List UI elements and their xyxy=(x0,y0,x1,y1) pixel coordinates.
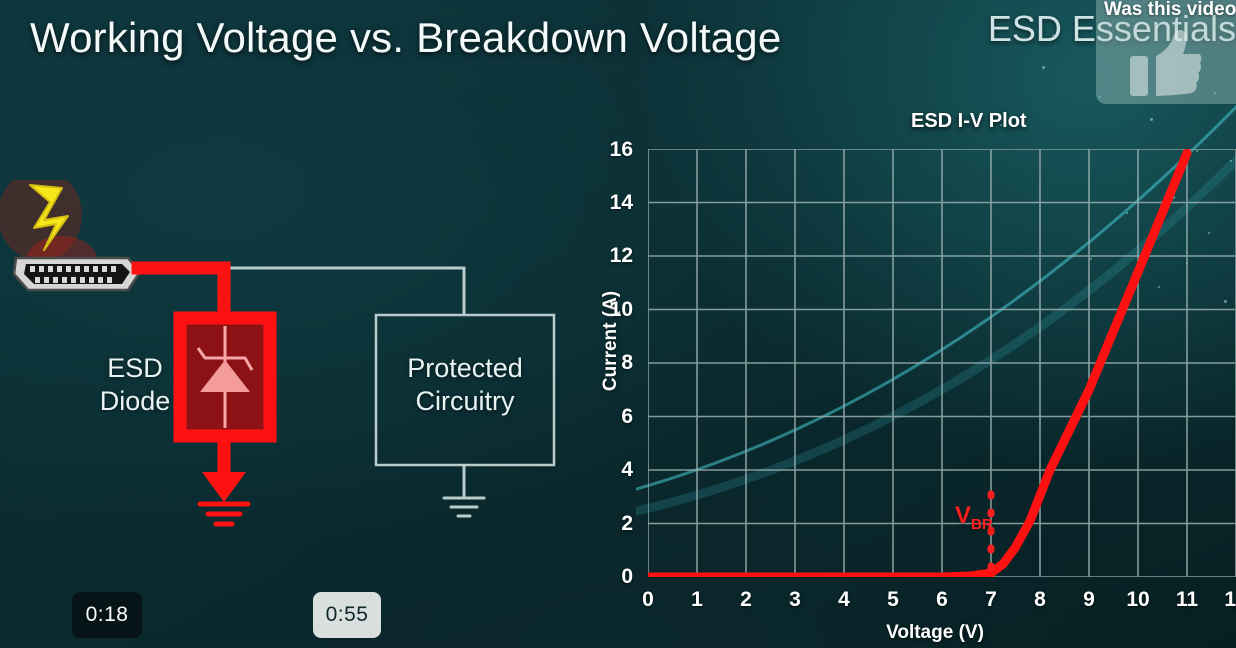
x-tick-4: 4 xyxy=(824,588,864,612)
esd-diode-label-line2: Diode xyxy=(80,385,190,418)
x-tick-9: 9 xyxy=(1069,588,1109,612)
vbr-label-main: V xyxy=(955,502,971,529)
current-time-badge[interactable]: 0:18 xyxy=(72,592,142,638)
total-time-badge[interactable]: 0:55 xyxy=(313,592,381,638)
y-tick-4: 4 xyxy=(593,458,633,482)
y-tick-12: 12 xyxy=(593,244,633,268)
page-title: Working Voltage vs. Breakdown Voltage xyxy=(30,14,781,62)
x-tick-11: 11 xyxy=(1167,588,1207,612)
grid-lines xyxy=(648,149,1236,577)
iv-curve xyxy=(648,153,1187,577)
protected-label-line1: Protected xyxy=(380,352,550,385)
vbr-annotation-label: VBR xyxy=(955,502,993,533)
x-tick-6: 6 xyxy=(922,588,962,612)
vbr-label-subscript: BR xyxy=(971,516,993,533)
x-tick-3: 3 xyxy=(775,588,815,612)
x-tick-8: 8 xyxy=(1020,588,1060,612)
x-tick-12: 12 xyxy=(1216,588,1236,612)
esd-diode-box xyxy=(180,318,270,436)
x-tick-2: 2 xyxy=(726,588,766,612)
chart-y-axis-label: Current (A) xyxy=(600,261,622,421)
chart-x-axis-label: Voltage (V) xyxy=(855,622,1015,644)
hdmi-connector-icon xyxy=(14,258,140,290)
y-tick-0: 0 xyxy=(593,565,633,589)
background-particle xyxy=(1042,66,1045,69)
chart-title: ESD I-V Plot xyxy=(575,110,1236,133)
x-tick-10: 10 xyxy=(1118,588,1158,612)
esd-iv-chart: ESD I-V Plot Current (A) Voltage (V) 16 … xyxy=(575,110,1236,648)
protected-ground-symbol-icon xyxy=(444,498,484,516)
x-tick-5: 5 xyxy=(873,588,913,612)
survey-overlay-card[interactable]: Was this video xyxy=(1096,0,1236,104)
y-tick-2: 2 xyxy=(593,512,633,536)
x-tick-0: 0 xyxy=(628,588,668,612)
y-tick-14: 14 xyxy=(593,191,633,215)
current-arrow-icon xyxy=(202,472,246,502)
plot-area xyxy=(648,149,1236,577)
protected-circuitry-label: Protected Circuitry xyxy=(380,352,550,418)
thumbs-up-icon[interactable] xyxy=(1130,30,1202,96)
x-tick-7: 7 xyxy=(971,588,1011,612)
y-tick-10: 10 xyxy=(593,298,633,322)
y-tick-16: 16 xyxy=(593,138,633,162)
esd-diode-label: ESD Diode xyxy=(80,352,190,418)
y-tick-6: 6 xyxy=(593,405,633,429)
esd-diode-label-line1: ESD xyxy=(80,352,190,385)
y-tick-8: 8 xyxy=(593,351,633,375)
x-tick-1: 1 xyxy=(677,588,717,612)
protected-label-line2: Circuitry xyxy=(380,385,550,418)
ground-symbol-icon xyxy=(200,504,248,524)
survey-overlay-prompt: Was this video xyxy=(1104,0,1236,21)
